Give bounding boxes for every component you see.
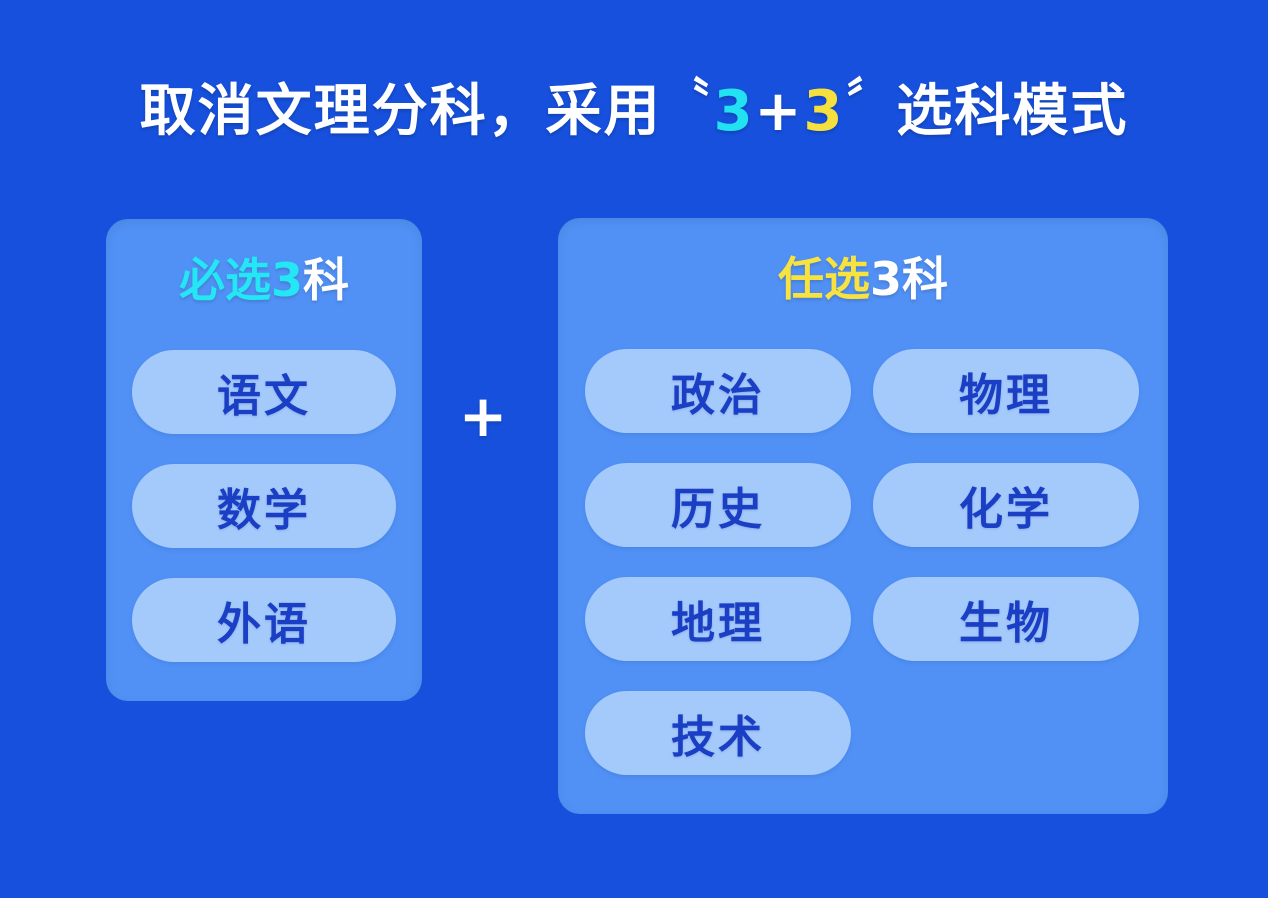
subject-pill-chemistry[interactable]: 化学 (873, 463, 1139, 547)
elective-header-accent: 任选 (778, 252, 870, 306)
quote-close-mark: 〞 (846, 74, 894, 127)
required-header-accent: 必选3 (179, 253, 303, 307)
elective-subjects-panel: 任选3科 政治 历史 地理 技术 物理 化学 生物 (558, 218, 1168, 814)
subject-pill-politics[interactable]: 政治 (585, 349, 851, 433)
plus-operator-icon: + (455, 388, 511, 444)
elective-subject-list-right: 物理 化学 生物 (873, 349, 1139, 661)
subject-pill-history[interactable]: 历史 (585, 463, 851, 547)
title-number-second: 3 (803, 79, 844, 144)
elective-subject-list-left: 政治 历史 地理 技术 (585, 349, 851, 775)
subject-pill-chinese[interactable]: 语文 (132, 350, 396, 434)
subject-pill-foreign-language[interactable]: 外语 (132, 578, 396, 662)
page-title: 取消文理分科，采用〝3+3〞选科模式 (0, 74, 1268, 144)
title-text-trail: 选科模式 (896, 79, 1128, 144)
subject-pill-physics[interactable]: 物理 (873, 349, 1139, 433)
title-plus-sign: + (755, 79, 804, 144)
elective-header-rest: 3科 (870, 252, 948, 306)
required-panel-header: 必选3科 (106, 257, 422, 303)
elective-panel-header: 任选3科 (558, 256, 1168, 302)
subject-pill-math[interactable]: 数学 (132, 464, 396, 548)
required-subjects-panel: 必选3科 语文 数学 外语 (106, 219, 422, 701)
subject-pill-geography[interactable]: 地理 (585, 577, 851, 661)
subject-pill-biology[interactable]: 生物 (873, 577, 1139, 661)
quote-open-mark: 〝 (664, 74, 712, 127)
title-text-lead: 取消文理分科，采用 (140, 79, 662, 144)
required-header-rest: 科 (303, 253, 349, 307)
required-subject-list: 语文 数学 外语 (132, 350, 396, 662)
subject-pill-technology[interactable]: 技术 (585, 691, 851, 775)
title-number-first: 3 (714, 79, 755, 144)
